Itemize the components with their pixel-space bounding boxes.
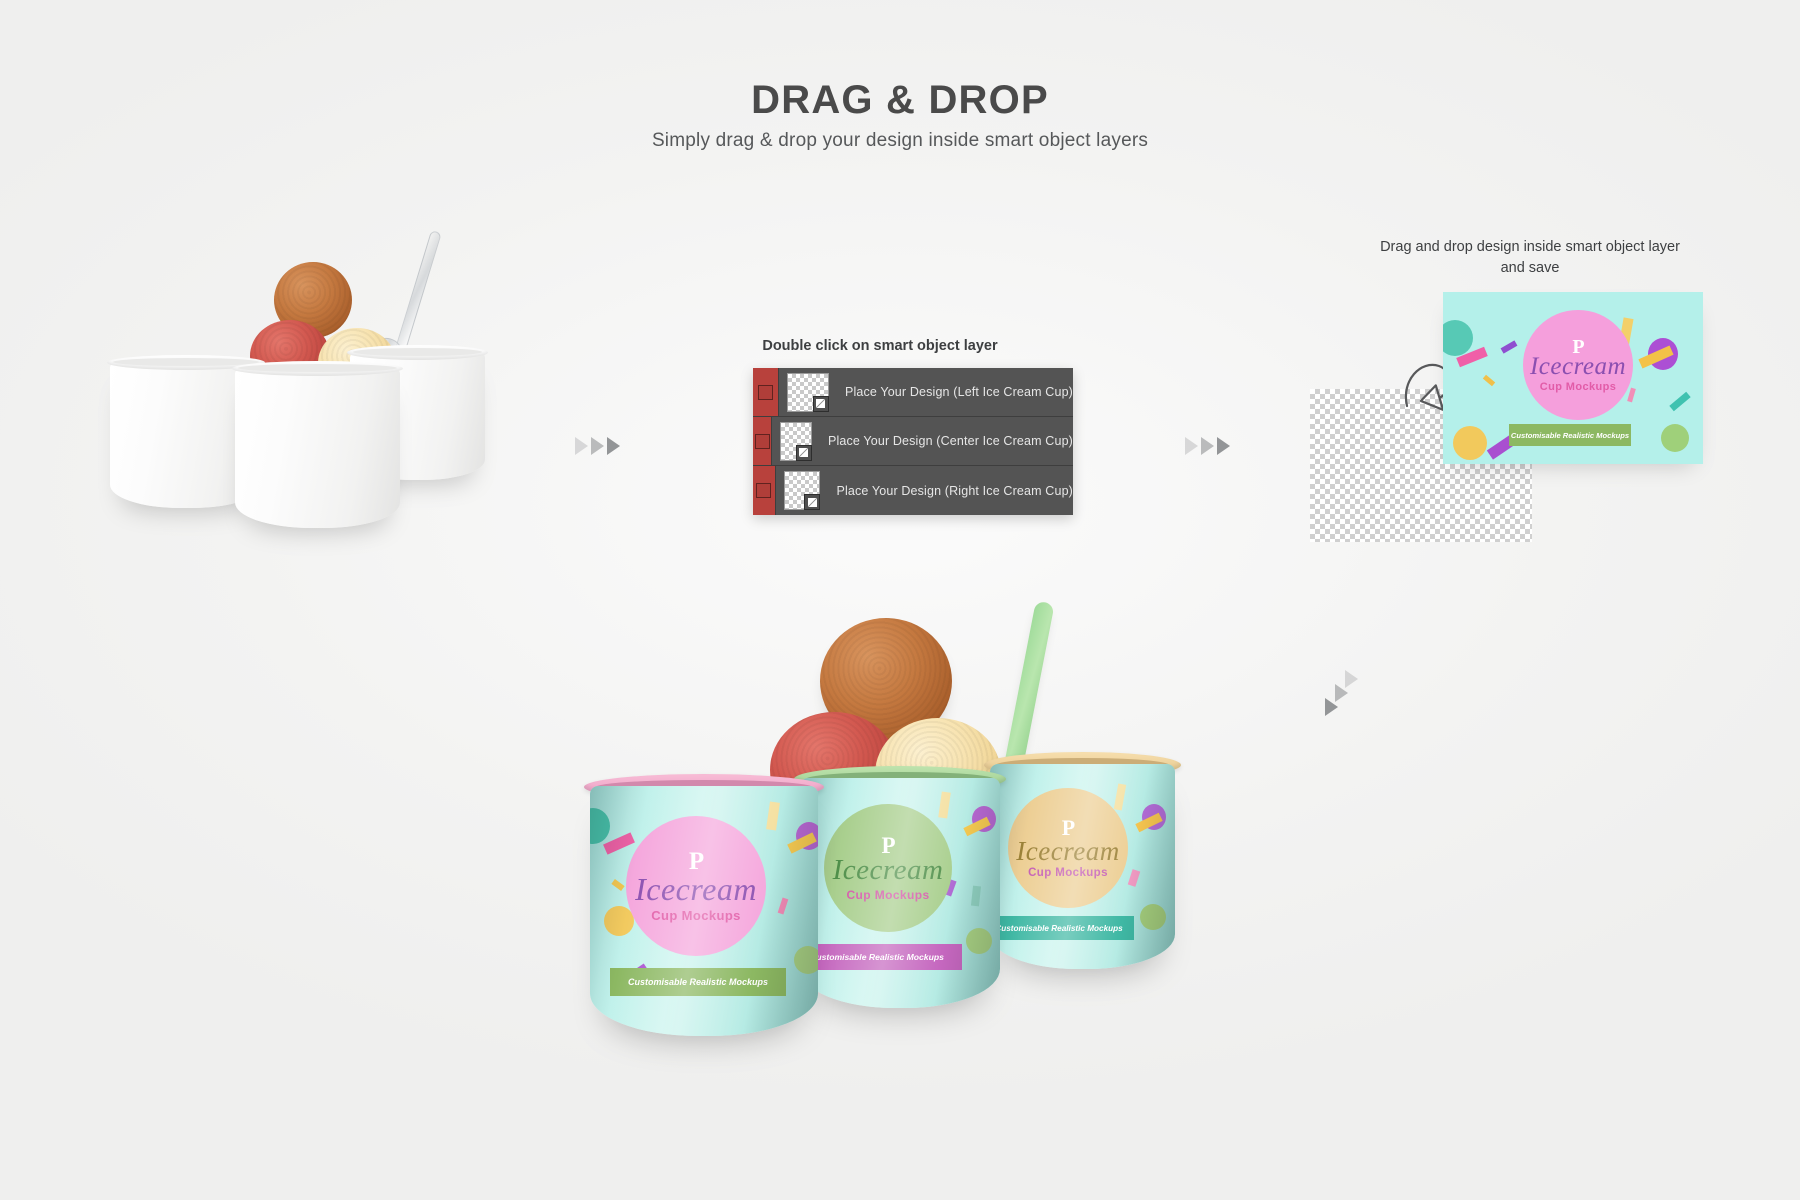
- cup-rim: [347, 345, 488, 360]
- cup-body: P Icecream Cup Mockups Customisable Real…: [800, 778, 1000, 1008]
- printed-cup-center[interactable]: P Icecream Cup Mockups Customisable Real…: [800, 778, 1000, 1008]
- layer-row[interactable]: Place Your Design (Left Ice Cream Cup): [753, 368, 1073, 417]
- play-triangle-icon: [607, 437, 620, 455]
- play-triangle-icon: [1201, 437, 1214, 455]
- layer-visibility-checkbox-icon[interactable]: [755, 434, 770, 449]
- confetti-shape: [1114, 784, 1126, 811]
- cup-ribbon: Customisable Realistic Mockups: [990, 916, 1134, 940]
- step-two-caption: Drag and drop design inside smart object…: [1375, 237, 1685, 279]
- cup-body: P Icecream Cup Mockups Customisable Real…: [990, 764, 1175, 969]
- confetti-shape: [1669, 392, 1690, 412]
- page-subtitle: Simply drag & drop your design inside sm…: [0, 130, 1800, 152]
- confetti-shape: [766, 801, 780, 830]
- layer-row[interactable]: Place Your Design (Center Ice Cream Cup): [753, 417, 1073, 466]
- layer-visibility-checkbox-icon[interactable]: [756, 483, 771, 498]
- layer-thumbnail[interactable]: [784, 471, 821, 510]
- presentation-stage: DRAG & DROP Simply drag & drop your desi…: [0, 0, 1800, 1200]
- layer-name: Place Your Design (Left Ice Cream Cup): [845, 385, 1073, 399]
- smart-object-badge-icon: [804, 494, 820, 510]
- confetti-shape: [1661, 424, 1689, 452]
- cup-subtitle: Cup Mockups: [846, 888, 929, 902]
- confetti-shape: [1627, 388, 1636, 403]
- cup-rim-inner: [353, 348, 482, 356]
- cup-badge: P Icecream Cup Mockups: [626, 816, 766, 956]
- cup-script: Icecream: [1016, 839, 1119, 865]
- cup-body: P Icecream Cup Mockups Customisable Real…: [590, 786, 818, 1036]
- confetti-shape: [938, 792, 951, 819]
- cup-badge: P Icecream Cup Mockups: [824, 804, 952, 932]
- artwork-badge: P Icecream Cup Mockups: [1523, 310, 1633, 420]
- confetti-shape: [966, 928, 992, 954]
- confetti-shape: [603, 832, 635, 854]
- artwork-ribbon: Customisable Realistic Mockups: [1509, 424, 1631, 446]
- cup-badge: P Icecream Cup Mockups: [1008, 788, 1128, 908]
- cup-subtitle: Cup Mockups: [1028, 867, 1108, 879]
- layer-thumbnail[interactable]: [780, 422, 812, 461]
- cup-subtitle: Cup Mockups: [651, 908, 741, 923]
- layer-thumbnail[interactable]: [787, 373, 829, 412]
- confetti-shape: [971, 886, 981, 907]
- layer-visibility-cell[interactable]: [753, 368, 779, 416]
- step-one-caption: Double click on smart object layer: [700, 336, 1060, 357]
- printed-cup-right[interactable]: P Icecream Cup Mockups Customisable Real…: [990, 764, 1175, 969]
- layer-row[interactable]: Place Your Design (Right Ice Cream Cup): [753, 466, 1073, 515]
- blank-cup-center: [235, 368, 400, 528]
- arrow-diagonal-cluster: [1325, 670, 1369, 710]
- smart-object-badge-icon: [796, 445, 812, 461]
- smart-object-badge-icon: [813, 396, 829, 412]
- play-triangle-icon: [591, 437, 604, 455]
- play-triangle-icon: [1325, 698, 1338, 716]
- cup-ribbon: Customisable Realistic Mockups: [800, 944, 962, 970]
- play-triangle-icon: [1185, 437, 1198, 455]
- clear-spoon: [393, 230, 442, 358]
- confetti-shape: [1501, 340, 1518, 353]
- cup-script: Icecream: [833, 857, 944, 885]
- artwork-subtitle: Cup Mockups: [1540, 381, 1617, 393]
- blank-cups-group: [110, 240, 530, 540]
- cup-ribbon: Customisable Realistic Mockups: [610, 968, 786, 996]
- confetti-shape: [1453, 426, 1487, 460]
- arrow-step-two: [1185, 437, 1230, 455]
- confetti-shape: [1140, 904, 1166, 930]
- arrow-step-one: [575, 437, 620, 455]
- page-title: DRAG & DROP: [0, 78, 1800, 123]
- layer-visibility-cell[interactable]: [753, 417, 772, 465]
- confetti-shape: [794, 946, 818, 974]
- printed-cups-group: P Icecream Cup Mockups Customisable Real…: [590, 600, 1290, 1130]
- confetti-shape: [611, 879, 624, 891]
- layer-visibility-cell[interactable]: [753, 466, 776, 515]
- confetti-shape: [590, 808, 610, 844]
- confetti-shape: [1483, 375, 1495, 387]
- confetti-shape: [1443, 320, 1473, 356]
- cup-rim: [232, 361, 403, 376]
- confetti-shape: [1128, 869, 1141, 887]
- confetti-shape: [778, 897, 789, 914]
- layer-name: Place Your Design (Right Ice Cream Cup): [836, 484, 1073, 498]
- layer-name: Place Your Design (Center Ice Cream Cup): [828, 434, 1073, 448]
- play-triangle-icon: [1217, 437, 1230, 455]
- play-triangle-icon: [575, 437, 588, 455]
- layers-panel[interactable]: Place Your Design (Left Ice Cream Cup) P…: [753, 368, 1073, 515]
- artwork-script: Icecream: [1530, 355, 1626, 379]
- cup-script: Icecream: [635, 874, 757, 904]
- layer-visibility-checkbox-icon[interactable]: [758, 385, 773, 400]
- cup-rim-inner: [238, 364, 397, 372]
- design-artwork-card[interactable]: P Icecream Cup Mockups Customisable Real…: [1443, 292, 1703, 464]
- printed-cup-left[interactable]: P Icecream Cup Mockups Customisable Real…: [590, 786, 818, 1036]
